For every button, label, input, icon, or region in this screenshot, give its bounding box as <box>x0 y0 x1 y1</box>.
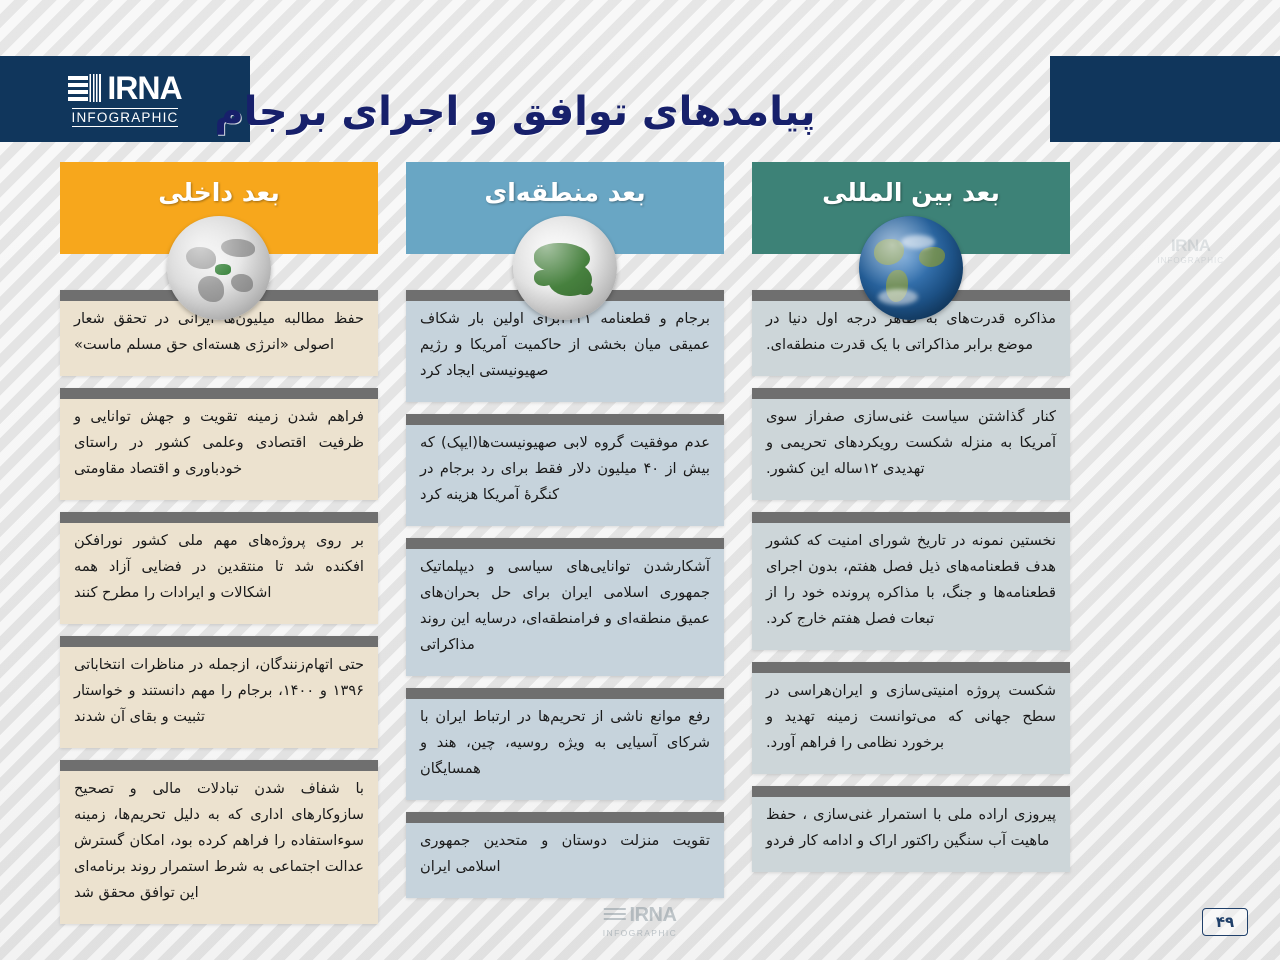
card-tab <box>60 512 378 523</box>
card-item: عدم موفقیت گروه لابی صهیونیست‌ها(ایپک) ک… <box>406 414 724 526</box>
column-title-domestic: بعد داخلی <box>60 178 378 207</box>
card-item: با شفاف شدن تبادلات مالی و تصحیح سازوکار… <box>60 760 378 924</box>
irna-mark-icon <box>604 907 626 925</box>
header-corner-block <box>1050 56 1280 142</box>
card-text: مذاکره قدرت‌های به ظاهر درجه اول دنیا در… <box>766 306 1056 358</box>
card-text: کنار گذاشتن سیاست غنی‌سازی صفراز سوی آمر… <box>766 404 1056 482</box>
column-title-international: بعد بین المللی <box>752 178 1070 207</box>
card-item: حتی اتهام‌زنندگان، ازجمله در مناظرات انت… <box>60 636 378 748</box>
infographic-page: IRNA INFOGRAPHIC پیامدهای توافق و اجرای … <box>0 0 1280 960</box>
card-item: فراهم شدن زمینه تقویت و جهش توانایی و ظر… <box>60 388 378 500</box>
page-title: پیامدهای توافق و اجرای برجام <box>0 89 1030 135</box>
card-tab <box>60 388 378 399</box>
card-tab <box>752 512 1070 523</box>
card-text: آشکارشدن توانایی‌های سیاسی و دیپلماتیک ج… <box>420 554 710 658</box>
column-regional: بعد منطقه‌ای برجام و قطعنامه ۲۲۳۱برای او… <box>406 162 724 936</box>
card-item: کنار گذاشتن سیاست غنی‌سازی صفراز سوی آمر… <box>752 388 1070 500</box>
card-item: پیروزی اراده ملی با استمرار غنی‌سازی ، ح… <box>752 786 1070 872</box>
card-tab <box>406 688 724 699</box>
card-text: برجام و قطعنامه ۲۲۳۱برای اولین بار شکاف … <box>420 306 710 384</box>
columns-container: بعد داخلی حفظ مطالبه میلیون‌ها ایرانی در… <box>60 162 1220 936</box>
card-tab <box>752 388 1070 399</box>
card-text: حتی اتهام‌زنندگان، ازجمله در مناظرات انت… <box>74 652 364 730</box>
footer-logo-row: IRNA <box>603 904 677 927</box>
footer-logo-subtitle: INFOGRAPHIC <box>603 928 677 938</box>
cards-domestic: حفظ مطالبه میلیون‌ها ایرانی در تحقق شعار… <box>60 290 378 924</box>
column-international: بعد بین المللی مذاکره قدرت‌های به ظاهر د… <box>752 162 1070 936</box>
card-item: مذاکره قدرت‌های به ظاهر درجه اول دنیا در… <box>752 290 1070 376</box>
card-tab <box>406 290 724 301</box>
card-item: شکست پروژه امنیتی‌سازی و ایران‌هراسی در … <box>752 662 1070 774</box>
card-tab <box>752 662 1070 673</box>
card-text: رفع موانع ناشی از تحریم‌ها در ارتباط ایر… <box>420 704 710 782</box>
card-item: برجام و قطعنامه ۲۲۳۱برای اولین بار شکاف … <box>406 290 724 402</box>
card-tab <box>406 812 724 823</box>
card-tab <box>406 538 724 549</box>
card-item: آشکارشدن توانایی‌های سیاسی و دیپلماتیک ج… <box>406 538 724 676</box>
card-tab <box>752 290 1070 301</box>
card-text: عدم موفقیت گروه لابی صهیونیست‌ها(ایپک) ک… <box>420 430 710 508</box>
card-text: بر روی پروژه‌های مهم ملی کشور نورافکن اف… <box>74 528 364 606</box>
card-text: حفظ مطالبه میلیون‌ها ایرانی در تحقق شعار… <box>74 306 364 358</box>
card-item: بر روی پروژه‌های مهم ملی کشور نورافکن اف… <box>60 512 378 624</box>
column-header-domestic: بعد داخلی <box>60 162 378 254</box>
page-number: ۴۹ <box>1202 908 1248 936</box>
card-text: با شفاف شدن تبادلات مالی و تصحیح سازوکار… <box>74 776 364 906</box>
card-item: تقویت منزلت دوستان و متحدین جمهوری اسلام… <box>406 812 724 898</box>
card-tab <box>60 760 378 771</box>
card-text: فراهم شدن زمینه تقویت و جهش توانایی و ظر… <box>74 404 364 482</box>
cards-regional: برجام و قطعنامه ۲۲۳۱برای اولین بار شکاف … <box>406 290 724 898</box>
card-tab <box>60 290 378 301</box>
cards-international: مذاکره قدرت‌های به ظاهر درجه اول دنیا در… <box>752 290 1070 872</box>
card-tab <box>752 786 1070 797</box>
card-tab <box>60 636 378 647</box>
card-text: تقویت منزلت دوستان و متحدین جمهوری اسلام… <box>420 828 710 880</box>
card-text: شکست پروژه امنیتی‌سازی و ایران‌هراسی در … <box>766 678 1056 756</box>
column-title-regional: بعد منطقه‌ای <box>406 178 724 207</box>
column-domestic: بعد داخلی حفظ مطالبه میلیون‌ها ایرانی در… <box>60 162 378 936</box>
card-text: پیروزی اراده ملی با استمرار غنی‌سازی ، ح… <box>766 802 1056 854</box>
card-tab <box>406 414 724 425</box>
card-item: نخستین نمونه در تاریخ شورای امنیت که کشو… <box>752 512 1070 650</box>
column-header-international: بعد بین المللی <box>752 162 1070 254</box>
card-text: نخستین نمونه در تاریخ شورای امنیت که کشو… <box>766 528 1056 632</box>
footer-logo: IRNA INFOGRAPHIC <box>603 904 677 938</box>
card-item: حفظ مطالبه میلیون‌ها ایرانی در تحقق شعار… <box>60 290 378 376</box>
column-header-regional: بعد منطقه‌ای <box>406 162 724 254</box>
card-item: رفع موانع ناشی از تحریم‌ها در ارتباط ایر… <box>406 688 724 800</box>
footer-logo-wordmark: IRNA <box>630 904 677 927</box>
